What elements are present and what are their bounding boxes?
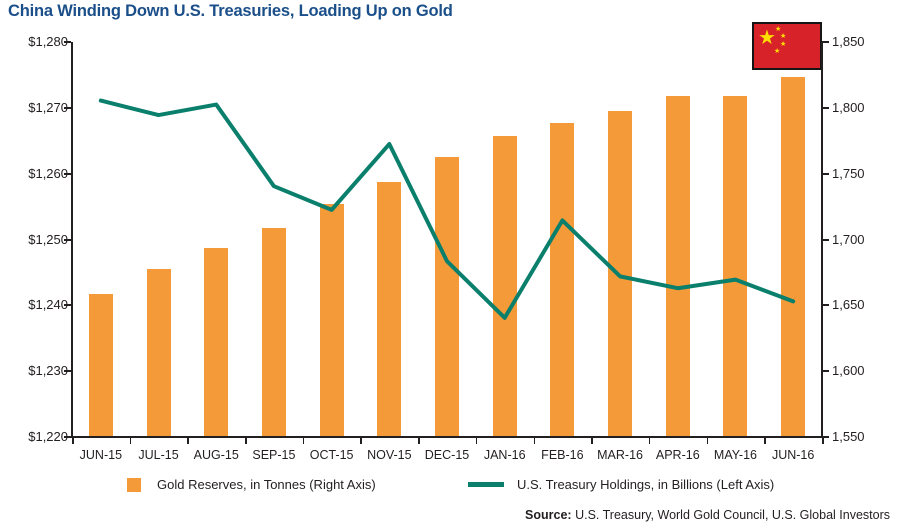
treasury-holdings-polyline bbox=[101, 101, 793, 318]
x-axis-tick bbox=[130, 437, 132, 444]
right-axis-tick-label: 1,550 bbox=[832, 430, 865, 443]
right-axis-tick-label: 1,700 bbox=[832, 233, 865, 246]
chart-container: China Winding Down U.S. Treasuries, Load… bbox=[0, 0, 900, 531]
x-axis-label-jun-15: JUN-15 bbox=[80, 448, 122, 462]
left-axis-tick-label: $1,230 bbox=[28, 364, 68, 377]
x-axis-label-may-16: MAY-16 bbox=[714, 448, 757, 462]
chart-legend: Gold Reserves, in Tonnes (Right Axis) U.… bbox=[0, 474, 900, 500]
source-text: U.S. Treasury, World Gold Council, U.S. … bbox=[572, 508, 890, 522]
x-axis-tick bbox=[72, 437, 74, 444]
flag-star-small-2: ★ bbox=[780, 33, 786, 40]
legend-label-treasury-holdings: U.S. Treasury Holdings, in Billions (Lef… bbox=[517, 477, 774, 492]
x-axis-label-dec-15: DEC-15 bbox=[425, 448, 469, 462]
left-axis-tick-label: $1,220 bbox=[28, 430, 68, 443]
right-axis-tick bbox=[822, 41, 829, 43]
right-axis-tick-label: 1,850 bbox=[832, 35, 865, 48]
right-axis-tick bbox=[822, 107, 829, 109]
x-axis-tick bbox=[707, 437, 709, 444]
left-axis-tick-label: $1,260 bbox=[28, 167, 68, 180]
plot-area: $1,220$1,230$1,240$1,250$1,260$1,270$1,2… bbox=[72, 42, 822, 437]
x-axis-tick bbox=[303, 437, 305, 444]
right-axis-tick bbox=[822, 370, 829, 372]
x-axis-tick bbox=[534, 437, 536, 444]
x-axis-label-oct-15: OCT-15 bbox=[310, 448, 354, 462]
x-axis-label-mar-16: MAR-16 bbox=[597, 448, 643, 462]
left-axis-tick-label: $1,280 bbox=[28, 35, 68, 48]
legend-item-gold-reserves: Gold Reserves, in Tonnes (Right Axis) bbox=[127, 477, 376, 492]
legend-label-gold-reserves: Gold Reserves, in Tonnes (Right Axis) bbox=[157, 477, 376, 492]
right-axis-tick bbox=[822, 239, 829, 241]
right-axis-tick bbox=[822, 304, 829, 306]
right-axis-tick-label: 1,600 bbox=[832, 364, 865, 377]
source-label: Source: bbox=[525, 508, 572, 522]
x-axis-tick bbox=[649, 437, 651, 444]
right-axis-tick bbox=[822, 173, 829, 175]
line-series-treasury-holdings bbox=[72, 42, 822, 437]
x-axis-label-sep-15: SEP-15 bbox=[252, 448, 295, 462]
x-axis-label-jun-16: JUN-16 bbox=[772, 448, 814, 462]
x-axis-tick bbox=[476, 437, 478, 444]
legend-swatch-square-icon bbox=[127, 478, 141, 492]
left-axis-tick-label: $1,250 bbox=[28, 233, 68, 246]
legend-item-treasury-holdings: U.S. Treasury Holdings, in Billions (Lef… bbox=[468, 477, 774, 492]
x-axis-label-jan-16: JAN-16 bbox=[484, 448, 526, 462]
left-axis-tick-label: $1,270 bbox=[28, 101, 68, 114]
x-axis-tick bbox=[360, 437, 362, 444]
x-axis-tick bbox=[822, 437, 824, 444]
x-axis-label-aug-15: AUG-15 bbox=[194, 448, 239, 462]
x-axis-tick bbox=[591, 437, 593, 444]
x-axis-label-nov-15: NOV-15 bbox=[367, 448, 411, 462]
x-axis-label-feb-16: FEB-16 bbox=[541, 448, 583, 462]
x-axis-tick bbox=[764, 437, 766, 444]
x-axis-label-jul-15: JUL-15 bbox=[138, 448, 178, 462]
left-axis-tick-label: $1,240 bbox=[28, 298, 68, 311]
legend-swatch-line-icon bbox=[468, 482, 504, 487]
x-axis-tick bbox=[187, 437, 189, 444]
right-axis-tick-label: 1,750 bbox=[832, 167, 865, 180]
page-title: China Winding Down U.S. Treasuries, Load… bbox=[8, 2, 453, 21]
x-axis-tick bbox=[418, 437, 420, 444]
right-axis-tick-label: 1,800 bbox=[832, 101, 865, 114]
right-axis-tick-label: 1,650 bbox=[832, 298, 865, 311]
source-note: Source: U.S. Treasury, World Gold Counci… bbox=[525, 508, 890, 522]
x-axis-tick bbox=[245, 437, 247, 444]
x-axis-label-apr-16: APR-16 bbox=[656, 448, 700, 462]
